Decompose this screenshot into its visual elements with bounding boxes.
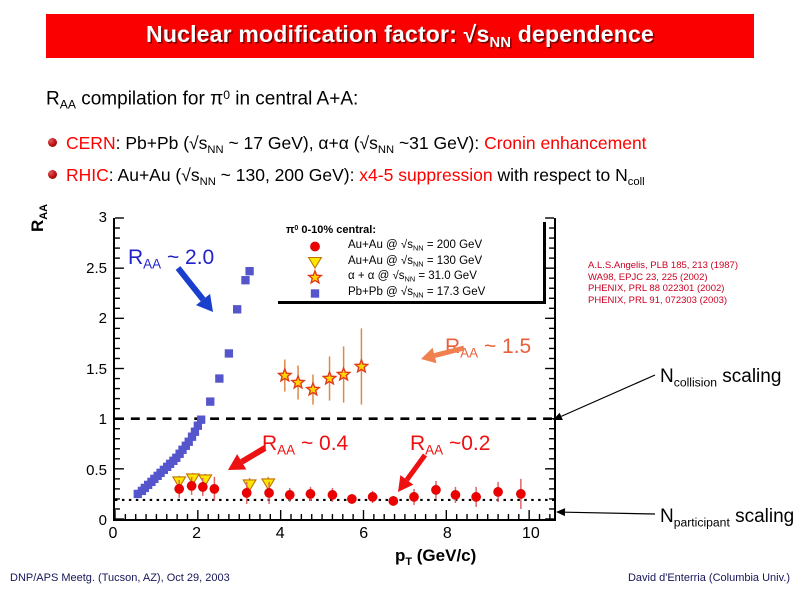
annotation-raa-0p2-sub: AA: [425, 443, 443, 458]
reference-line: PHENIX, PRL 91, 072303 (2003): [588, 295, 738, 307]
star-marker-icon: [308, 271, 322, 283]
reference-line: A.L.S.Angelis, PLB 185, 213 (1987): [588, 260, 738, 272]
annotation-raa-2p0: RAA ~ 2.0: [128, 246, 214, 272]
y-tick-label: 3: [73, 209, 107, 226]
bullet-cern-highlight: Cronin enhancement: [484, 133, 646, 153]
x-tick-label: 2: [182, 525, 212, 543]
x-axis-title-post: (GeV/c): [412, 546, 476, 565]
nparticipant-scaling-label: Nparticipant scaling: [660, 506, 794, 529]
x-tick-label: 8: [432, 525, 462, 543]
legend-entry: Au+Au @ √sNN = 200 GeV: [286, 239, 536, 253]
legend-entry-label: Au+Au @ √sNN = 130 GeV: [348, 255, 482, 269]
npart-pre: N: [660, 506, 674, 527]
legend-entry-label: α + α @ √sNN = 31.0 GeV: [348, 270, 477, 284]
y-tick-label: 2.5: [73, 260, 107, 277]
annotation-raa-2p0-sub: AA: [143, 257, 161, 272]
intro-sub: AA: [60, 98, 76, 112]
bullet-rhic-tail: with respect to N: [493, 165, 628, 185]
title-pre: Nuclear modification factor: √s: [146, 21, 489, 47]
title-post: dependence: [511, 21, 654, 47]
npart-post: scaling: [730, 506, 794, 527]
footer-left: DNP/APS Meetg. (Tucson, AZ), Oct 29, 200…: [10, 572, 230, 584]
x-tick-label: 6: [349, 525, 379, 543]
x-tick-label: 0: [98, 525, 128, 543]
bullet-dot-icon: [48, 138, 57, 147]
annotation-raa-0p2-post: ~0.2: [443, 432, 490, 455]
bullet-rhic-tail-sub: coll: [628, 176, 645, 188]
y-axis-title: RAA: [28, 204, 50, 232]
series-circle: [175, 477, 526, 509]
intro-mid: compilation for π: [76, 88, 223, 109]
npart-sub: participant: [674, 515, 730, 529]
bullet-rhic-label: RHIC: [66, 165, 109, 185]
ncoll-sub: collision: [674, 375, 717, 389]
legend-title-post: 0-10% central:: [298, 224, 376, 236]
annotation-raa-1p5-post: ~ 1.5: [478, 335, 531, 358]
series-star: [279, 328, 368, 404]
y-tick-label: 1.5: [73, 361, 107, 378]
y-tick-label: 1: [73, 411, 107, 428]
y-tick-label: 0.5: [73, 462, 107, 479]
annotation-raa-2p0-post: ~ 2.0: [161, 246, 214, 269]
x-axis-title: pT (GeV/c): [395, 546, 476, 568]
x-axis-title-pre: p: [395, 546, 405, 565]
ncollision-scaling-label: Ncollision scaling: [660, 366, 781, 389]
bullet-cern-text-a: : Pb+Pb (√s: [116, 133, 208, 153]
bullet-cern-text-b: ~ 17 GeV), α+α (√s: [224, 133, 378, 153]
bullet-rhic-sub-a: NN: [200, 176, 216, 188]
bullet-rhic-text-a: : Au+Au (√s: [109, 165, 200, 185]
title-subscript: NN: [489, 35, 511, 51]
ncoll-pre: N: [660, 366, 674, 387]
title-banner: Nuclear modification factor: √sNN depend…: [46, 14, 754, 58]
bullet-dot-icon: [48, 170, 57, 179]
reference-line: WA98, EPJC 23, 225 (2002): [588, 272, 738, 284]
annotation-raa-0p4-post: ~ 0.4: [295, 432, 348, 455]
bullet-cern-label: CERN: [66, 133, 116, 153]
reference-line: PHENIX, PRL 88 022301 (2002): [588, 283, 738, 295]
annotation-raa-1p5-sub: AA: [460, 346, 478, 361]
bullet-rhic-highlight: x4-5 suppression: [359, 165, 492, 185]
y-tick-label: 2: [73, 310, 107, 327]
ncoll-post: scaling: [717, 366, 781, 387]
circle-marker-icon: [308, 240, 322, 252]
annotation-raa-0p4-sub: AA: [277, 443, 295, 458]
triangle-marker-icon: [308, 256, 322, 268]
bullet-item-rhic: RHIC: Au+Au (√sNN ~ 130, 200 GeV): x4-5 …: [48, 165, 645, 188]
intro-line: RAA compilation for π0 in central A+A:: [46, 88, 358, 112]
chart-legend: π0 0-10% central: Au+Au @ √sNN = 200 GeV…: [278, 222, 546, 304]
intro-sup: 0: [223, 88, 230, 102]
bullet-cern-sub-b: NN: [378, 144, 394, 156]
legend-entry-label: Pb+Pb @ √sNN = 17.3 GeV: [348, 286, 485, 300]
annotation-raa-0p4: RAA ~ 0.4: [262, 432, 348, 458]
y-axis-title-pre: R: [28, 220, 47, 232]
y-axis-title-sub: AA: [38, 204, 50, 220]
annotation-raa-0p2: RAA ~0.2: [410, 432, 490, 458]
legend-entry-label: Au+Au @ √sNN = 200 GeV: [348, 239, 482, 253]
annotation-raa-2p0-pre: R: [128, 246, 143, 269]
legend-entry: Au+Au @ √sNN = 130 GeV: [286, 255, 536, 269]
x-tick-label: 10: [516, 525, 546, 543]
intro-pre: R: [46, 88, 60, 109]
legend-entry: α + α @ √sNN = 31.0 GeV: [286, 270, 536, 284]
bullet-cern-text-c: ~31 GeV):: [394, 133, 484, 153]
x-tick-label: 4: [265, 525, 295, 543]
intro-post: in central A+A:: [230, 88, 358, 109]
bullet-item-cern: CERN: Pb+Pb (√sNN ~ 17 GeV), α+α (√sNN ~…: [48, 133, 647, 156]
bullet-rhic-text-b: ~ 130, 200 GeV):: [216, 165, 360, 185]
bullet-cern-sub-a: NN: [207, 144, 223, 156]
annotation-raa-0p4-pre: R: [262, 432, 277, 455]
legend-title: π0 0-10% central:: [286, 224, 376, 236]
annotation-raa-1p5: RAA ~ 1.5: [445, 335, 531, 361]
legend-entry: Pb+Pb @ √sNN = 17.3 GeV: [286, 286, 536, 300]
square-marker-icon: [308, 287, 322, 299]
series-square: [134, 267, 254, 498]
references-block: A.L.S.Angelis, PLB 185, 213 (1987)WA98, …: [588, 260, 738, 306]
annotation-raa-0p2-pre: R: [410, 432, 425, 455]
footer-right: David d'Enterria (Columbia Univ.): [628, 572, 790, 584]
page-title: Nuclear modification factor: √sNN depend…: [146, 21, 654, 51]
annotation-raa-1p5-pre: R: [445, 335, 460, 358]
